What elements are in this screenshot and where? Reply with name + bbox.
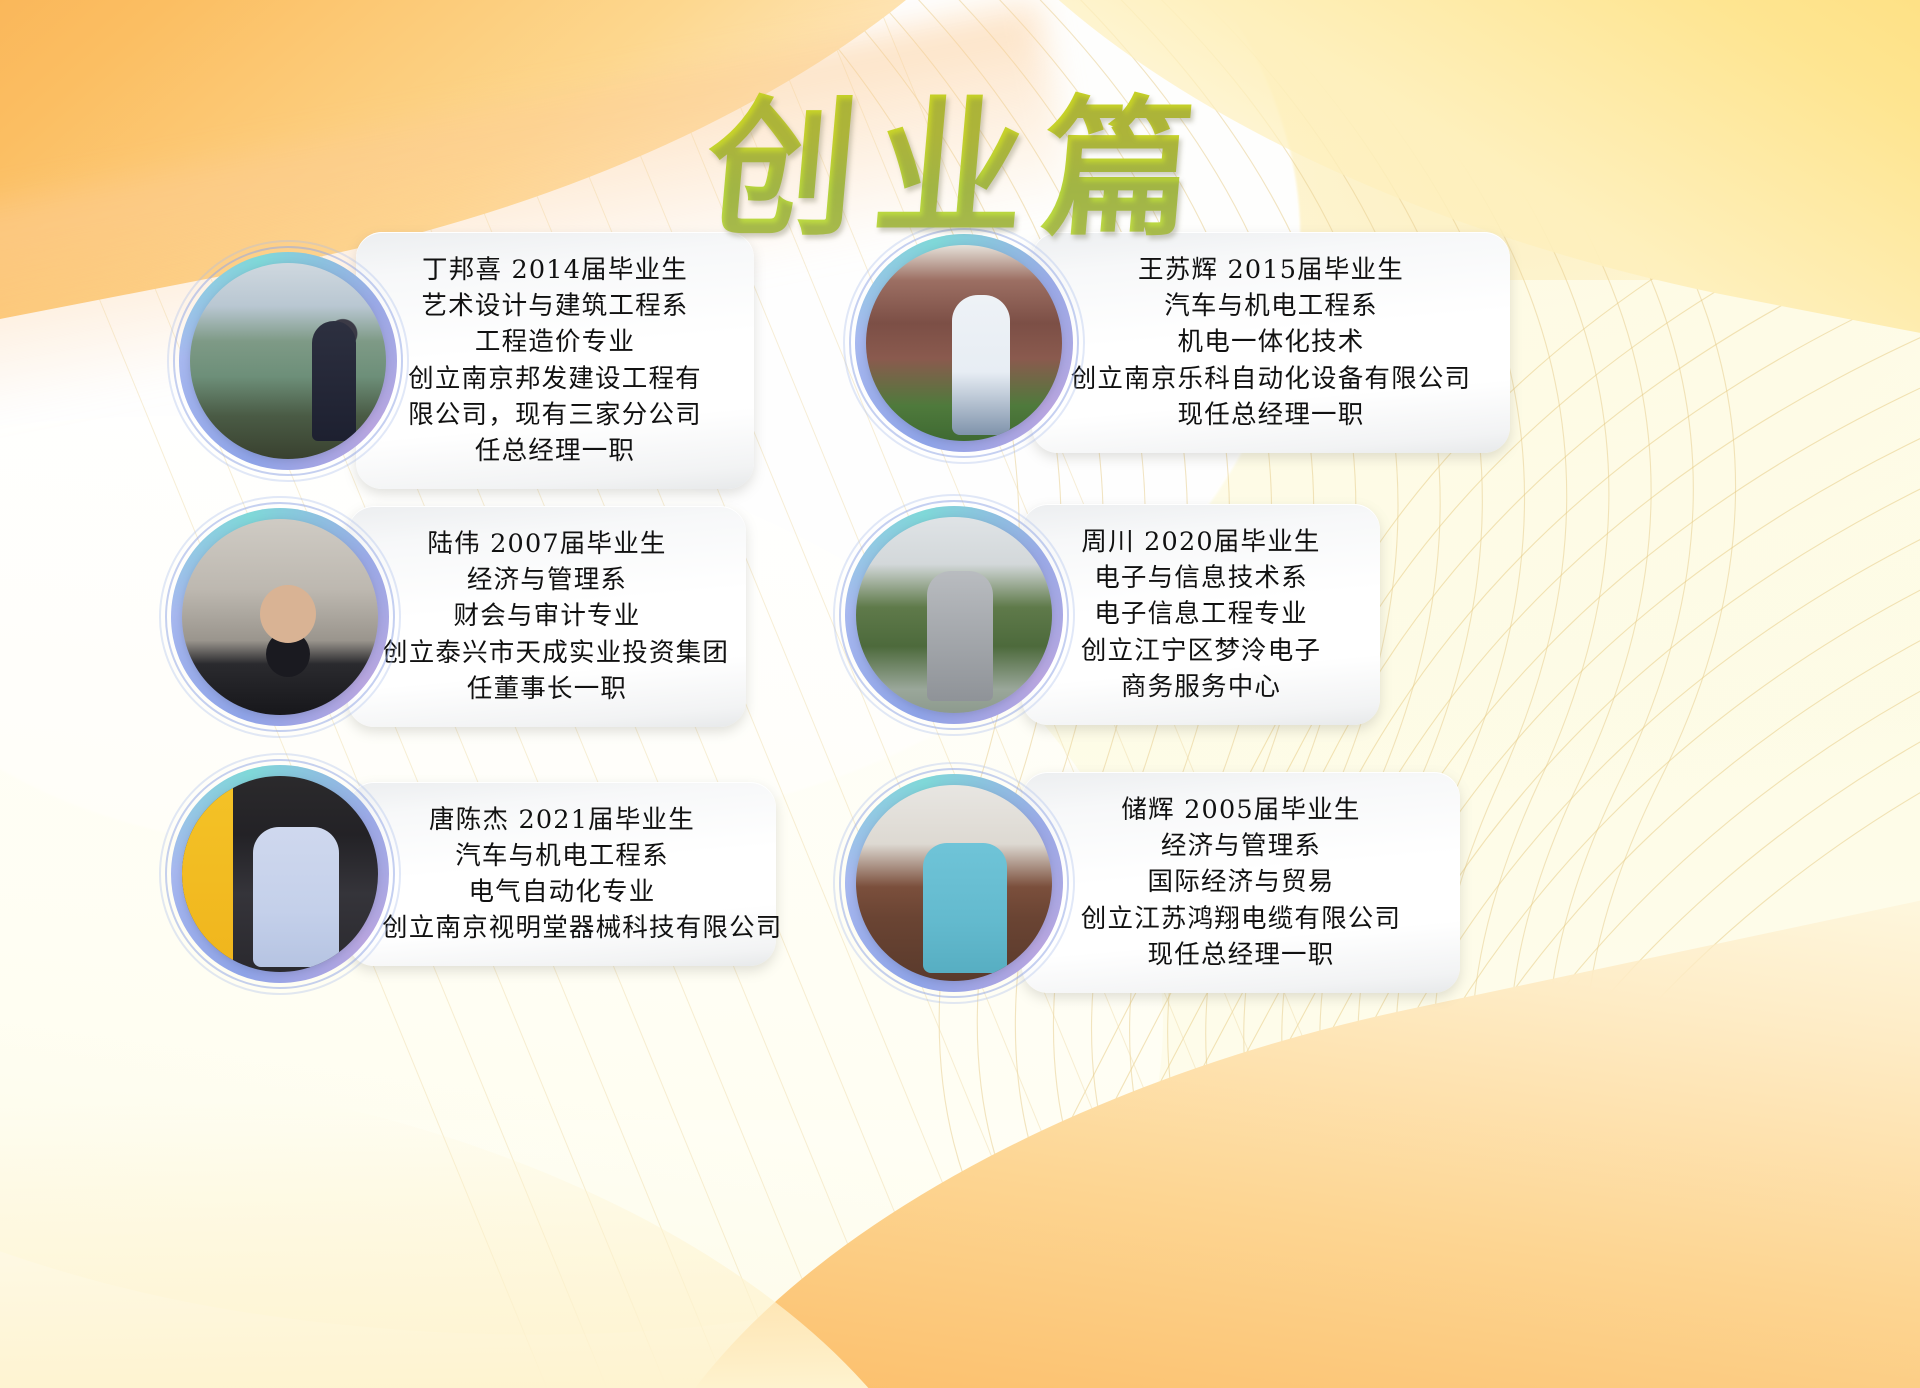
profile-line: 现任总经理一职	[1056, 937, 1426, 973]
profile-line: 现任总经理一职	[1066, 397, 1476, 433]
avatar	[182, 519, 378, 715]
profile-card-wang-suhui[interactable]: 王苏辉 2015届毕业生 汽车与机电工程系 机电一体化技术 创立南京乐科自动化设…	[866, 232, 1510, 453]
profile-line: 商务服务中心	[1056, 669, 1346, 705]
avatar	[182, 776, 378, 972]
profile-line: 经济与管理系	[1056, 828, 1426, 864]
avatar	[190, 263, 386, 459]
profile-line: 唐陈杰 2021届毕业生	[382, 802, 742, 838]
profile-line: 创立南京邦发建设工程有	[390, 361, 720, 397]
profile-line: 汽车与机电工程系	[1066, 288, 1476, 324]
profile-text-bubble: 丁邦喜 2014届毕业生 艺术设计与建筑工程系 工程造价专业 创立南京邦发建设工…	[356, 232, 754, 489]
avatar	[856, 517, 1052, 713]
profile-line: 工程造价专业	[390, 324, 720, 360]
profile-line: 创立南京乐科自动化设备有限公司	[1066, 361, 1476, 397]
profile-text-bubble: 王苏辉 2015届毕业生 汽车与机电工程系 机电一体化技术 创立南京乐科自动化设…	[1032, 232, 1510, 453]
profile-card-tang-chenjie[interactable]: 唐陈杰 2021届毕业生 汽车与机电工程系 电气自动化专业 创立南京视明堂器械科…	[182, 776, 776, 972]
profile-line: 任总经理一职	[390, 433, 720, 469]
profile-line: 周川 2020届毕业生	[1056, 524, 1346, 560]
profile-line: 丁邦喜 2014届毕业生	[390, 252, 720, 288]
profile-card-ding-bangxi[interactable]: 丁邦喜 2014届毕业生 艺术设计与建筑工程系 工程造价专业 创立南京邦发建设工…	[190, 232, 754, 489]
profile-line: 创立江宁区梦泠电子	[1056, 633, 1346, 669]
profile-line: 创立江苏鸿翔电缆有限公司	[1056, 901, 1426, 937]
profile-line: 王苏辉 2015届毕业生	[1066, 252, 1476, 288]
profile-text-bubble: 储辉 2005届毕业生 经济与管理系 国际经济与贸易 创立江苏鸿翔电缆有限公司 …	[1022, 772, 1460, 993]
profile-line: 电子信息工程专业	[1056, 596, 1346, 632]
profile-text-bubble: 唐陈杰 2021届毕业生 汽车与机电工程系 电气自动化专业 创立南京视明堂器械科…	[348, 782, 776, 967]
profile-line: 电气自动化专业	[382, 874, 742, 910]
profile-card-chu-hui[interactable]: 储辉 2005届毕业生 经济与管理系 国际经济与贸易 创立江苏鸿翔电缆有限公司 …	[856, 772, 1460, 993]
profile-card-zhou-chuan[interactable]: 周川 2020届毕业生 电子与信息技术系 电子信息工程专业 创立江宁区梦泠电子 …	[856, 504, 1380, 725]
avatar-photo	[182, 776, 378, 972]
profile-line: 财会与审计专业	[382, 598, 712, 634]
profile-line: 经济与管理系	[382, 562, 712, 598]
avatar-photo	[856, 785, 1052, 981]
profile-text-bubble: 周川 2020届毕业生 电子与信息技术系 电子信息工程专业 创立江宁区梦泠电子 …	[1022, 504, 1380, 725]
profile-line: 限公司，现有三家分公司	[390, 397, 720, 433]
poster-canvas: 创业篇 丁邦喜 2014届毕业生 艺术设计与建筑工程系 工程造价专业 创立南京邦…	[0, 0, 1920, 1388]
profile-line: 任董事长一职	[382, 671, 712, 707]
profile-line: 国际经济与贸易	[1056, 864, 1426, 900]
avatar	[866, 245, 1062, 441]
profile-text-bubble: 陆伟 2007届毕业生 经济与管理系 财会与审计专业 创立泰兴市天成实业投资集团…	[348, 506, 746, 727]
profile-line: 电子与信息技术系	[1056, 560, 1346, 596]
avatar	[856, 785, 1052, 981]
avatar-photo	[866, 245, 1062, 441]
profile-line: 陆伟 2007届毕业生	[382, 526, 712, 562]
profile-card-lu-wei[interactable]: 陆伟 2007届毕业生 经济与管理系 财会与审计专业 创立泰兴市天成实业投资集团…	[182, 506, 746, 727]
avatar-photo	[190, 263, 386, 459]
profile-line: 汽车与机电工程系	[382, 838, 742, 874]
avatar-photo	[856, 517, 1052, 713]
profile-line: 艺术设计与建筑工程系	[390, 288, 720, 324]
avatar-photo	[182, 519, 378, 715]
profile-line: 创立南京视明堂器械科技有限公司	[382, 910, 742, 946]
profile-line: 创立泰兴市天成实业投资集团	[382, 635, 712, 671]
profile-line: 机电一体化技术	[1066, 324, 1476, 360]
profile-line: 储辉 2005届毕业生	[1056, 792, 1426, 828]
